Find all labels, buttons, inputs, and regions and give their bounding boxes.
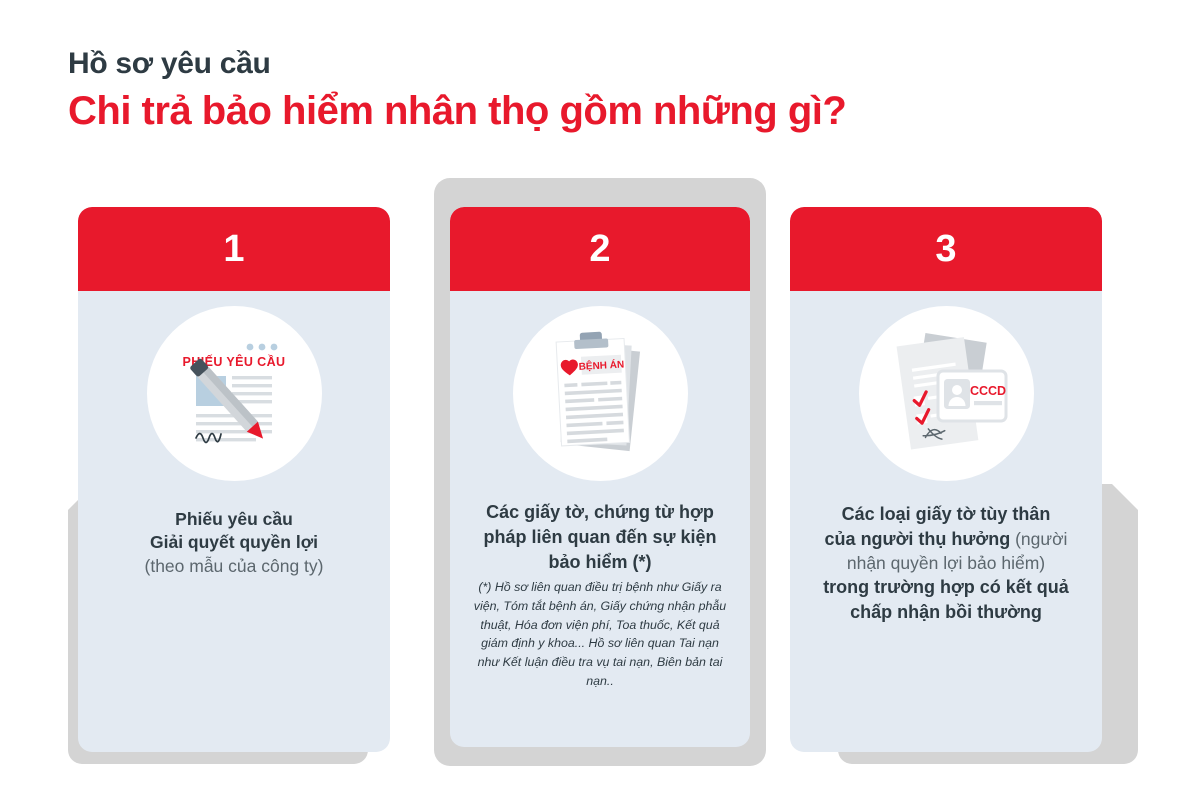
cards-container: 1 PHIẾU YÊU CẦU: [0, 178, 1201, 778]
card-body: 3: [790, 207, 1102, 752]
card-line-4: trong trường hợp có kết quả: [806, 575, 1086, 600]
icon-circle: BỆNH ÁN: [513, 306, 688, 481]
icon-circle: PHIẾU YÊU CẦU: [147, 306, 322, 481]
header-eyebrow: Hồ sơ yêu cầu: [68, 46, 1128, 81]
request-form-icon: PHIẾU YÊU CẦU: [178, 330, 290, 458]
card-line-5: chấp nhận bồi thường: [806, 600, 1086, 625]
card-line-1: Các loại giấy tờ tùy thân: [806, 502, 1086, 527]
medical-record-clipboard-icon: BỆNH ÁN: [541, 326, 659, 462]
card-line-2-suffix: (người: [1010, 529, 1067, 549]
page-header: Hồ sơ yêu cầu Chi trả bảo hiểm nhân thọ …: [68, 46, 1128, 135]
card-line-3: nhận quyền lợi bảo hiểm): [806, 552, 1086, 575]
step-card-3: 3: [780, 178, 1132, 778]
card-body: 1 PHIẾU YÊU CẦU: [78, 207, 390, 752]
page-title: Chi trả bảo hiểm nhân thọ gồm những gì?: [68, 87, 1128, 135]
card-line-1: Phiếu yêu cầu: [94, 508, 374, 531]
card-line-2: của người thụ hưởng (người: [806, 527, 1086, 552]
id-card-documents-icon: CCCD: [880, 327, 1012, 461]
card-text: Các loại giấy tờ tùy thân của người thụ …: [790, 502, 1102, 625]
card-text: Phiếu yêu cầu Giải quyết quyền lợi (theo…: [78, 508, 390, 578]
card-header: 3: [790, 207, 1102, 291]
card-line-2: pháp liên quan đến sự kiện: [466, 525, 734, 550]
step-number: 1: [223, 230, 244, 268]
card-header: 2: [450, 207, 750, 291]
card-line-3: (theo mẫu của công ty): [94, 555, 374, 578]
card-header: 1: [78, 207, 390, 291]
card-body: 2: [450, 207, 750, 747]
icon-circle: CCCD: [859, 306, 1034, 481]
icon-zone: BỆNH ÁN: [450, 291, 750, 496]
card-line-2: Giải quyết quyền lợi: [94, 531, 374, 554]
icon-zone: CCCD: [790, 291, 1102, 496]
card-line-3: bảo hiểm (*): [466, 550, 734, 575]
card-line-2-bold: của người thụ hưởng: [825, 529, 1011, 549]
step-card-1: 1 PHIẾU YÊU CẦU: [68, 178, 420, 778]
step-card-2: 2: [424, 178, 776, 778]
icon-zone: PHIẾU YÊU CẦU: [78, 291, 390, 496]
step-number: 3: [935, 230, 956, 268]
svg-text:CCCD: CCCD: [970, 384, 1006, 398]
card-line-1: Các giấy tờ, chứng từ hợp: [466, 500, 734, 525]
card-footnote: (*) Hồ sơ liên quan điều trị bệnh như Gi…: [466, 578, 734, 690]
step-number: 2: [589, 230, 610, 268]
card-text: Các giấy tờ, chứng từ hợp pháp liên quan…: [450, 500, 750, 690]
